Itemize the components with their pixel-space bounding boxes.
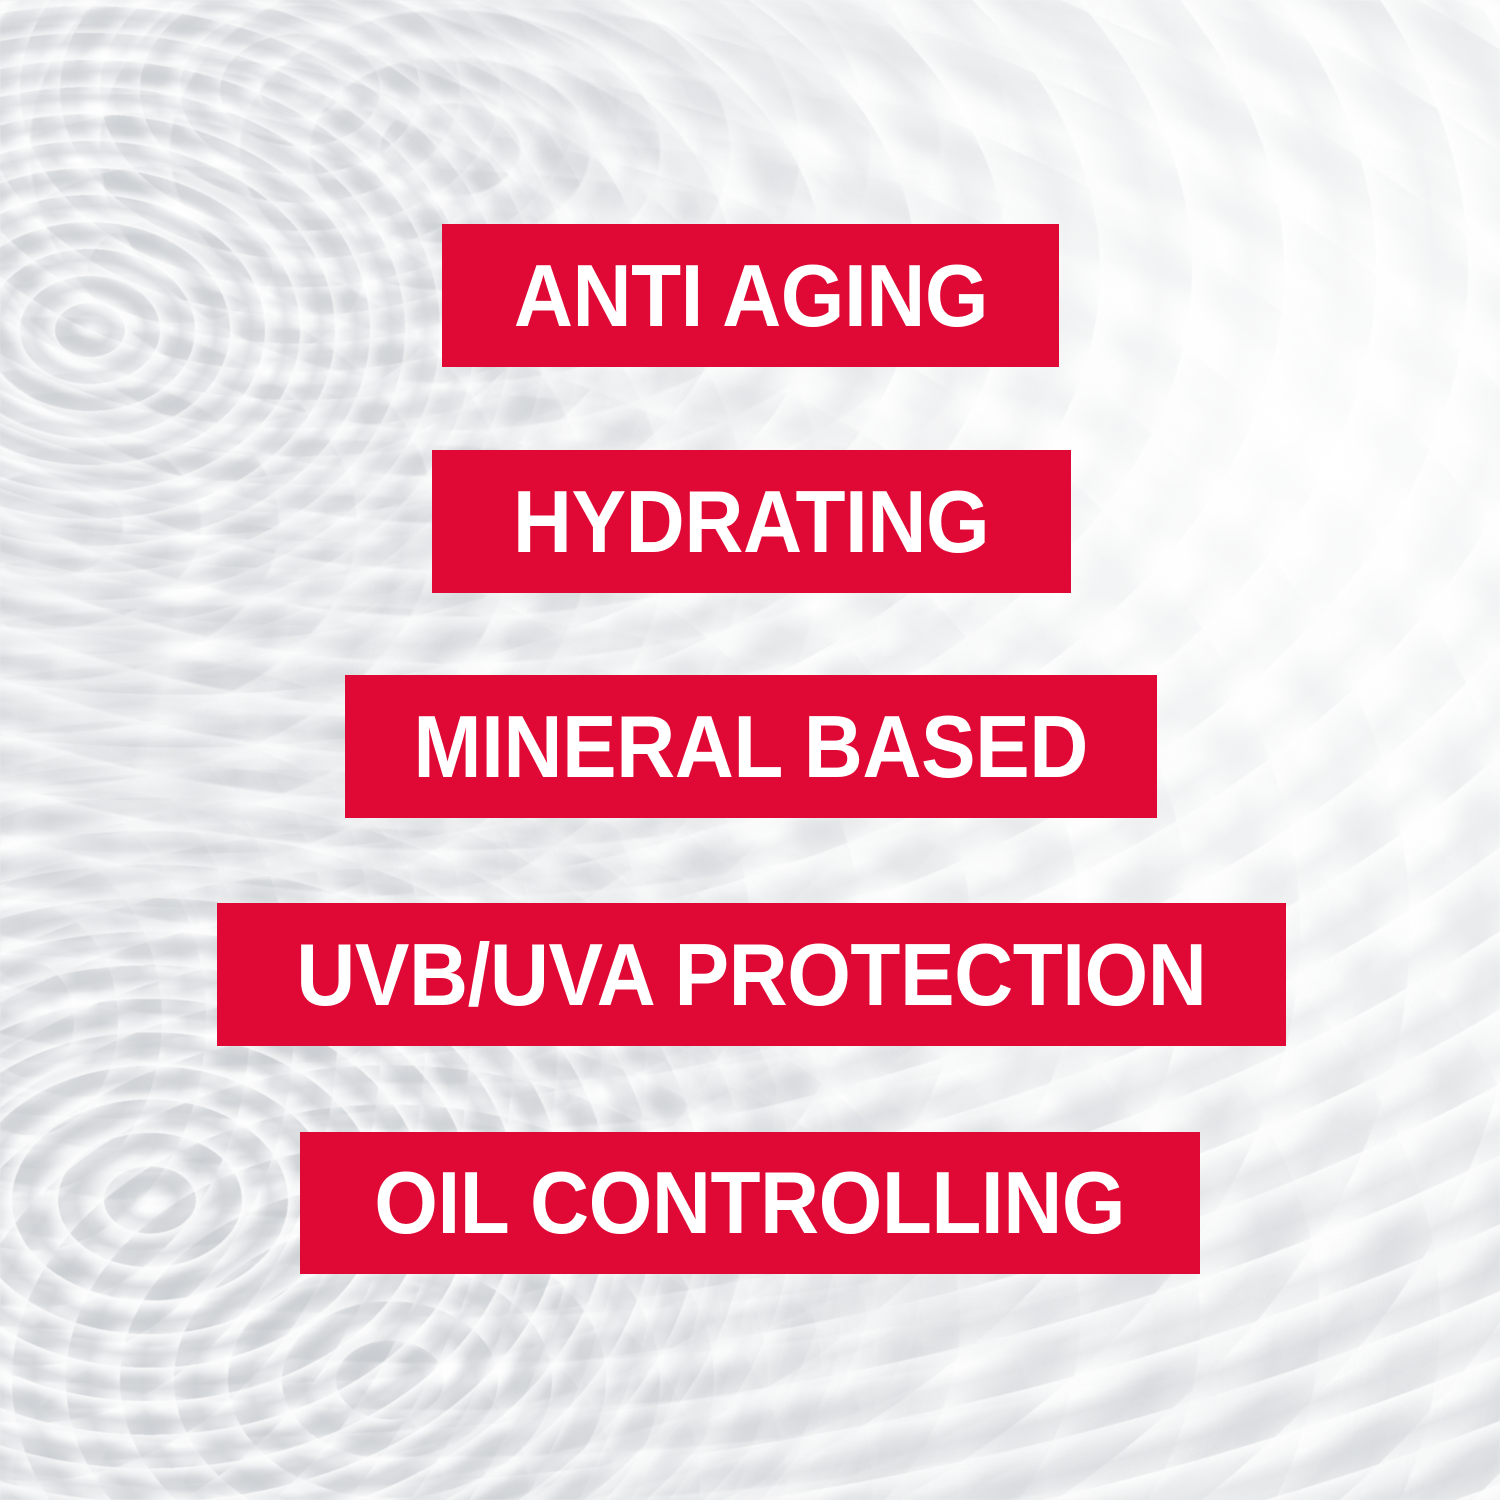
benefit-label-oil-controlling: OIL CONTROLLING [375, 1159, 1126, 1247]
benefit-label-anti-aging: ANTI AGING [513, 252, 987, 340]
benefit-label-mineral-based: MINERAL BASED [414, 703, 1088, 791]
benefit-band-hydrating: HYDRATING [432, 450, 1071, 593]
benefit-band-uvb-uva-protection: UVB/UVA PROTECTION [217, 903, 1286, 1046]
benefit-band-mineral-based: MINERAL BASED [345, 675, 1157, 818]
benefit-band-oil-controlling: OIL CONTROLLING [300, 1132, 1200, 1274]
benefit-band-anti-aging: ANTI AGING [442, 224, 1059, 367]
benefit-label-hydrating: HYDRATING [513, 478, 989, 566]
benefit-label-uvb-uva-protection: UVB/UVA PROTECTION [296, 931, 1206, 1019]
benefits-banner: ANTI AGING HYDRATING MINERAL BASED UVB/U… [0, 0, 1500, 1500]
